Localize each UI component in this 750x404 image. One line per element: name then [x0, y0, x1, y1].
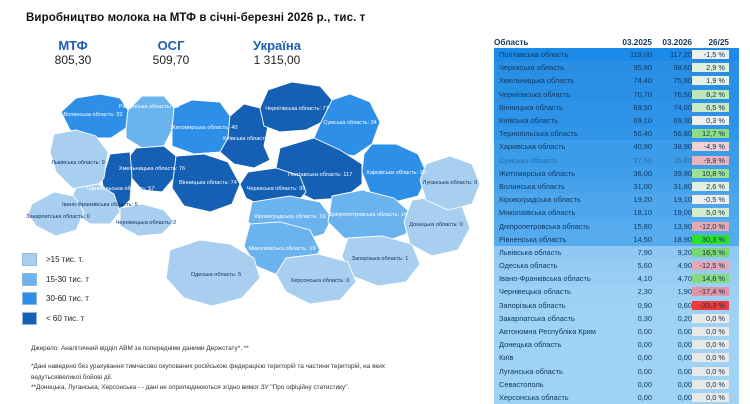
cell-change-pct: 5,0 % — [692, 208, 729, 217]
cell-region-name: Вінницька область — [494, 103, 612, 112]
table-row[interactable]: Чернівецька область2,301,90-17,4 % — [494, 285, 739, 298]
map-label-zakarpattia: Закарпатська область: 0 — [26, 214, 90, 220]
column-header-change[interactable]: 26/25 — [692, 38, 733, 47]
kpi-mtf-label: МТФ — [36, 38, 110, 53]
cell-change-pct: 0,0 % — [692, 340, 729, 349]
table-row[interactable]: Київська область69,1069,300,3 % — [494, 114, 739, 127]
cell-region-name: Київська область — [494, 116, 612, 125]
cell-value-2025: 0,00 — [612, 353, 652, 362]
table-row[interactable]: Чернігівська область70,7076,508,2 % — [494, 88, 739, 101]
cell-value-2026: 4,90 — [652, 261, 692, 270]
cell-region-name: Львівська область — [494, 248, 612, 257]
regions-table[interactable]: Область 03.2025 03.2026 26/25 Полтавська… — [494, 30, 739, 404]
table-row[interactable]: Миколаївська область18,1019,005,0 % — [494, 206, 739, 219]
cell-value-2025: 0,30 — [612, 314, 652, 323]
table-row[interactable]: Автономна Республіка Крим0,000,000,0 % — [494, 325, 739, 338]
cell-value-2026: 4,70 — [652, 274, 692, 283]
cell-change-pct: -12,5 % — [692, 261, 729, 270]
cell-change-pct: -1,5 % — [692, 50, 729, 59]
cell-region-name: Чернігівська область — [494, 90, 612, 99]
kpi-mtf: МТФ 805,30 — [36, 38, 110, 68]
cell-value-2026: 39,90 — [652, 169, 692, 178]
map-label-odesa: Одеська область: 5 — [191, 272, 241, 278]
cell-change-pct: 0,0 % — [692, 380, 729, 389]
table-row[interactable]: Донецька область0,000,000,0 % — [494, 338, 739, 351]
table-row[interactable]: Севастополь0,000,000,0 % — [494, 378, 739, 391]
map-label-kharkiv: Харківська область: 39 — [366, 170, 426, 176]
cell-value-2025: 0,00 — [612, 367, 652, 376]
map-label-kyiv-oblast: Київська область: 69 — [223, 136, 277, 142]
cell-value-2025: 119,00 — [612, 50, 652, 59]
cell-value-2026: 69,30 — [652, 116, 692, 125]
table-row[interactable]: Луганська область0,000,000,0 % — [494, 365, 739, 378]
cell-region-name: Івано-Франківська область — [494, 274, 612, 283]
cell-value-2026: 0,00 — [652, 367, 692, 376]
cell-value-2026: 35,80 — [652, 156, 692, 165]
cell-value-2025: 50,40 — [612, 129, 652, 138]
cell-value-2025: 18,10 — [612, 208, 652, 217]
kpi-osg: ОСГ 509,70 — [134, 38, 208, 68]
table-row[interactable]: Житомирська область36,0039,9010,8 % — [494, 167, 739, 180]
page-title: Виробництво молока на МТФ в січні-березн… — [26, 12, 365, 24]
cell-region-name: Миколаївська область — [494, 208, 612, 217]
map-label-dnipro: Дніпропетровська область: 14 — [329, 212, 407, 218]
map-label-vinnytsia: Вінницька область: 74 — [179, 180, 237, 186]
table-row[interactable]: Харківська область40,9038,90-4,9 % — [494, 140, 739, 153]
region-crimea[interactable] — [298, 304, 366, 322]
legend-item-3[interactable]: < 60 тис. т — [22, 309, 89, 329]
cell-region-name: Дніпропетровська область — [494, 222, 612, 231]
cell-change-pct: 0,0 % — [692, 327, 729, 336]
cell-change-pct: 6,5 % — [692, 103, 729, 112]
map-label-volyn: Волинська область: 32 — [63, 112, 122, 118]
table-row[interactable]: Сумська область37,5035,80-9,9 % — [494, 154, 739, 167]
cell-change-pct: 0,0 % — [692, 393, 729, 402]
map-label-khmelnytskyi: Хмельницька область: 76 — [119, 166, 185, 172]
legend-item-2[interactable]: 30-60 тис. т — [22, 289, 89, 309]
footnote-1: *Дані наведено без урахування тимчасово … — [31, 362, 461, 373]
table-row[interactable]: Івано-Франківська область4,104,7014,6 % — [494, 272, 739, 285]
cell-value-2025: 2,30 — [612, 287, 652, 296]
cell-value-2026: 117,20 — [652, 50, 692, 59]
cell-region-name: Донецька область — [494, 340, 612, 349]
cell-value-2025: 69,50 — [612, 103, 652, 112]
cell-value-2025: 31,00 — [612, 182, 652, 191]
cell-region-name: Київ — [494, 353, 612, 362]
footnote-2: **Донецька, Луганська, Херсонська - - да… — [31, 383, 461, 394]
cell-change-pct: -9,9 % — [692, 156, 729, 165]
cell-region-name: Полтавська область — [494, 50, 612, 59]
cell-change-pct: -12,0 % — [692, 222, 729, 231]
cell-region-name: Запорізька область — [494, 301, 612, 310]
cell-value-2025: 0,00 — [612, 327, 652, 336]
kpi-ukraine-label: Україна — [232, 38, 322, 53]
cell-value-2025: 7,90 — [612, 248, 652, 257]
kpi-ukraine: Україна 1 315,00 — [232, 38, 322, 68]
map-label-luhansk: Луганська область: 0 — [423, 180, 478, 186]
cell-change-pct: 2,6 % — [692, 182, 729, 191]
cell-change-pct: 0,3 % — [692, 116, 729, 125]
cell-region-name: Автономна Республіка Крим — [494, 327, 612, 336]
cell-value-2025: 15,80 — [612, 222, 652, 231]
cell-value-2025: 0,00 — [612, 393, 652, 402]
table-row[interactable]: Вінницька область69,5074,006,5 % — [494, 101, 739, 114]
cell-value-2025: 14,50 — [612, 235, 652, 244]
cell-region-name: Севастополь — [494, 380, 612, 389]
kpi-ukraine-value: 1 315,00 — [232, 53, 322, 68]
map-label-zaporizhzhia: Запорізька область: 1 — [352, 256, 409, 262]
cell-value-2025: 69,10 — [612, 116, 652, 125]
map-label-poltava: Полтавська область: 117 — [288, 172, 352, 178]
cell-region-name: Тернопільська область — [494, 129, 612, 138]
cell-change-pct: 14,6 % — [692, 274, 729, 283]
map-label-chernivtsi: Чернівецька область: 2 — [116, 220, 177, 226]
cell-change-pct: 0,0 % — [692, 353, 729, 362]
cell-value-2026: 13,90 — [652, 222, 692, 231]
cell-region-name: Луганська область — [494, 367, 612, 376]
table-row[interactable]: Тернопільська область50,4056,8012,7 % — [494, 127, 739, 140]
cell-value-2025: 95,80 — [612, 63, 652, 72]
cell-value-2025: 0,00 — [612, 380, 652, 389]
cell-value-2025: 4,10 — [612, 274, 652, 283]
cell-change-pct: 2,9 % — [692, 63, 729, 72]
table-row[interactable]: Херсонська область0,000,000,0 % — [494, 391, 739, 404]
legend-label: >15 тис. т. — [46, 255, 83, 264]
cell-region-name: Херсонська область — [494, 393, 612, 402]
map-label-zhytomyr: Житомирська область: 40 — [171, 125, 238, 131]
cell-region-name: Сумська область — [494, 156, 612, 165]
kpi-mtf-value: 805,30 — [36, 53, 110, 68]
map-label-chernihiv: Чернігівська область: 77 — [265, 106, 328, 112]
cell-value-2025: 5,60 — [612, 261, 652, 270]
cell-value-2025: 0,00 — [612, 340, 652, 349]
cell-region-name: Рівненська область — [494, 235, 612, 244]
cell-change-pct: -4,9 % — [692, 142, 729, 151]
cell-value-2026: 0,00 — [652, 380, 692, 389]
table-row[interactable]: Полтавська область119,00117,20-1,5 % — [494, 48, 739, 61]
cell-value-2025: 36,00 — [612, 169, 652, 178]
footnote-1b: ведутьсяівеликої бойові дії. — [31, 373, 461, 384]
cell-value-2026: 75,80 — [652, 76, 692, 85]
map-label-ivano-frankivsk: Івано-Франківська область: 5 — [62, 202, 138, 208]
cell-value-2026: 74,00 — [652, 103, 692, 112]
cell-region-name: Закарпатська область — [494, 314, 612, 323]
table-row[interactable]: Хмельницька область74,4075,801,9 % — [494, 74, 739, 87]
kpi-osg-label: ОСГ — [134, 38, 208, 53]
table-row[interactable]: Львівська область7,909,2016,5 % — [494, 246, 739, 259]
table-row[interactable]: Дніпропетровська область15,8013,90-12,0 … — [494, 219, 739, 232]
cell-change-pct: 10,8 % — [692, 169, 729, 178]
cell-value-2026: 0,00 — [652, 327, 692, 336]
cell-value-2026: 0,20 — [652, 314, 692, 323]
cell-value-2025: 0,90 — [612, 301, 652, 310]
cell-value-2026: 38,90 — [652, 142, 692, 151]
legend-label: < 60 тис. т — [46, 314, 84, 323]
cell-region-name: Одеська область — [494, 261, 612, 270]
cell-value-2026: 1,90 — [652, 287, 692, 296]
kpi-group: МТФ 805,30 ОСГ 509,70 Україна 1 315,00 — [36, 38, 322, 68]
cell-value-2026: 0,00 — [652, 340, 692, 349]
cell-value-2026: 18,90 — [652, 235, 692, 244]
cell-change-pct: 12,7 % — [692, 129, 729, 138]
column-header-2026[interactable]: 03.2026 — [652, 38, 692, 47]
map-label-lviv: Львівська область: 9 — [51, 160, 105, 166]
cell-value-2026: 31,80 — [652, 182, 692, 191]
table-row[interactable]: Кіровоградська область19,2019,10-0,5 % — [494, 193, 739, 206]
table-row[interactable]: Рівненська область14,5018,9030,3 % — [494, 233, 739, 246]
cell-value-2026: 0,60 — [652, 301, 692, 310]
map-label-donetsk: Донецька область: 0 — [409, 222, 462, 228]
legend-swatch-icon — [22, 273, 37, 286]
cell-value-2026: 56,80 — [652, 129, 692, 138]
cell-change-pct: -33,3 % — [692, 301, 729, 310]
map-label-rivne: Рівненська область: 19 — [119, 104, 179, 110]
cell-region-name: Чернівецька область — [494, 287, 612, 296]
column-header-2025[interactable]: 03.2025 — [612, 38, 652, 47]
map-label-sumy: Сумська область: 34 — [323, 120, 377, 126]
table-body: Полтавська область119,00117,20-1,5 %Черк… — [494, 47, 739, 404]
legend-item-1[interactable]: 15-30 тис. т — [22, 270, 89, 290]
map-label-ternopil: Тернопільська область: 57 — [86, 186, 155, 192]
cell-value-2026: 0,00 — [652, 353, 692, 362]
legend-swatch-icon — [22, 292, 37, 305]
cell-value-2026: 76,50 — [652, 90, 692, 99]
cell-region-name: Житомирська область — [494, 169, 612, 178]
kpi-osg-value: 509,70 — [134, 53, 208, 68]
legend-label: 30-60 тис. т — [46, 294, 89, 303]
cell-change-pct: 16,5 % — [692, 248, 729, 257]
cell-value-2025: 19,20 — [612, 195, 652, 204]
cell-value-2026: 98,60 — [652, 63, 692, 72]
cell-value-2025: 37,50 — [612, 156, 652, 165]
legend-label: 15-30 тис. т — [46, 275, 89, 284]
map-legend: >15 тис. т. 15-30 тис. т 30-60 тис. т < … — [22, 250, 89, 328]
cell-value-2025: 74,40 — [612, 76, 652, 85]
table-row[interactable]: Запорізька область0,900,60-33,3 % — [494, 299, 739, 312]
cell-value-2026: 19,00 — [652, 208, 692, 217]
column-header-region[interactable]: Область — [494, 38, 612, 47]
map-label-cherkasy: Черкаська область: 99 — [247, 186, 306, 192]
cell-value-2025: 40,90 — [612, 142, 652, 151]
cell-value-2026: 9,20 — [652, 248, 692, 257]
map-label-mykolaiv: Миколаївська область: 19 — [248, 246, 315, 252]
legend-item-0[interactable]: >15 тис. т. — [22, 250, 89, 270]
footnotes: *Дані наведено без урахування тимчасово … — [31, 362, 461, 394]
table-row[interactable]: Волинська область31,0031,802,6 % — [494, 180, 739, 193]
cell-change-pct: 8,2 % — [692, 90, 729, 99]
table-row[interactable]: Київ0,000,000,0 % — [494, 351, 739, 364]
legend-swatch-icon — [22, 253, 37, 266]
table-row[interactable]: Одеська область5,604,90-12,5 % — [494, 259, 739, 272]
table-row[interactable]: Черкаська область95,8098,602,9 % — [494, 61, 739, 74]
legend-swatch-icon — [22, 312, 37, 325]
cell-region-name: Кіровоградська область — [494, 195, 612, 204]
map-label-kherson: Херсонська область: 0 — [291, 278, 350, 284]
dashboard-root: Виробництво молока на МТФ в січні-березн… — [0, 0, 750, 403]
cell-value-2026: 19,10 — [652, 195, 692, 204]
table-header-row: Область 03.2025 03.2026 26/25 — [494, 30, 739, 47]
cell-region-name: Хмельницька область — [494, 76, 612, 85]
cell-value-2026: 0,00 — [652, 393, 692, 402]
cell-change-pct: -0,5 % — [692, 195, 729, 204]
table-row[interactable]: Закарпатська область0,300,200,0 % — [494, 312, 739, 325]
cell-region-name: Волинська область — [494, 182, 612, 191]
cell-change-pct: 0,0 % — [692, 367, 729, 376]
map-label-kirovohrad: Кіровоградська область: 19 — [254, 214, 325, 220]
cell-change-pct: 1,9 % — [692, 76, 729, 85]
cell-change-pct: 0,0 % — [692, 314, 729, 323]
cell-region-name: Харківська область — [494, 142, 612, 151]
cell-change-pct: -17,4 % — [692, 287, 729, 296]
cell-change-pct: 30,3 % — [692, 235, 729, 244]
source-note: Джерело: Аналітичний відділ АВМ за попер… — [31, 345, 249, 352]
cell-value-2025: 70,70 — [612, 90, 652, 99]
cell-region-name: Черкаська область — [494, 63, 612, 72]
